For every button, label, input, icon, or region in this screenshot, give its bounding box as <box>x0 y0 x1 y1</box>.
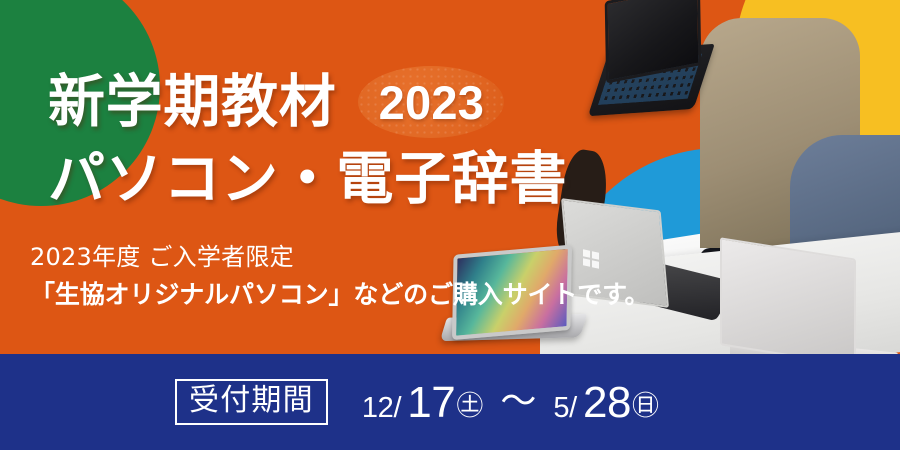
period-label-badge: 受付期間 <box>175 379 328 425</box>
headline-first-row: 新学期教材 2023 <box>48 66 567 138</box>
page-title-line-1: 新学期教材 <box>48 74 336 131</box>
period-dates: 12/ 17 ㊏ ～ 5/ 28 ㊐ <box>362 376 659 428</box>
date-range-separator: ～ <box>500 372 536 424</box>
end-month: 5/ <box>553 392 577 425</box>
start-day: 17 <box>407 378 455 428</box>
start-month: 12/ <box>362 392 401 425</box>
application-period-bar: 受付期間 12/ 17 ㊏ ～ 5/ 28 ㊐ <box>0 354 900 450</box>
campaign-banner: 新学期教材 2023 パソコン・電子辞書 2023年度 ご入学者限定 「生協オリ… <box>0 0 900 450</box>
end-day-of-week: ㊐ <box>632 384 659 423</box>
subtitle-line-2: 「生協オリジナルパソコン」などのご購入サイトです。 <box>30 280 649 310</box>
dell-laptop-icon <box>720 248 900 355</box>
subtitle-block: 2023年度 ご入学者限定 「生協オリジナルパソコン」などのご購入サイトです。 <box>30 243 649 310</box>
year-badge-label: 2023 <box>379 75 485 130</box>
subtitle-line-1: 2023年度 ご入学者限定 <box>30 243 649 271</box>
page-title-line-2: パソコン・電子辞書 <box>48 151 567 208</box>
year-badge: 2023 <box>358 66 504 138</box>
headline-block: 新学期教材 2023 パソコン・電子辞書 <box>48 66 567 208</box>
end-day: 28 <box>583 378 631 428</box>
start-day-of-week: ㊏ <box>456 384 483 423</box>
